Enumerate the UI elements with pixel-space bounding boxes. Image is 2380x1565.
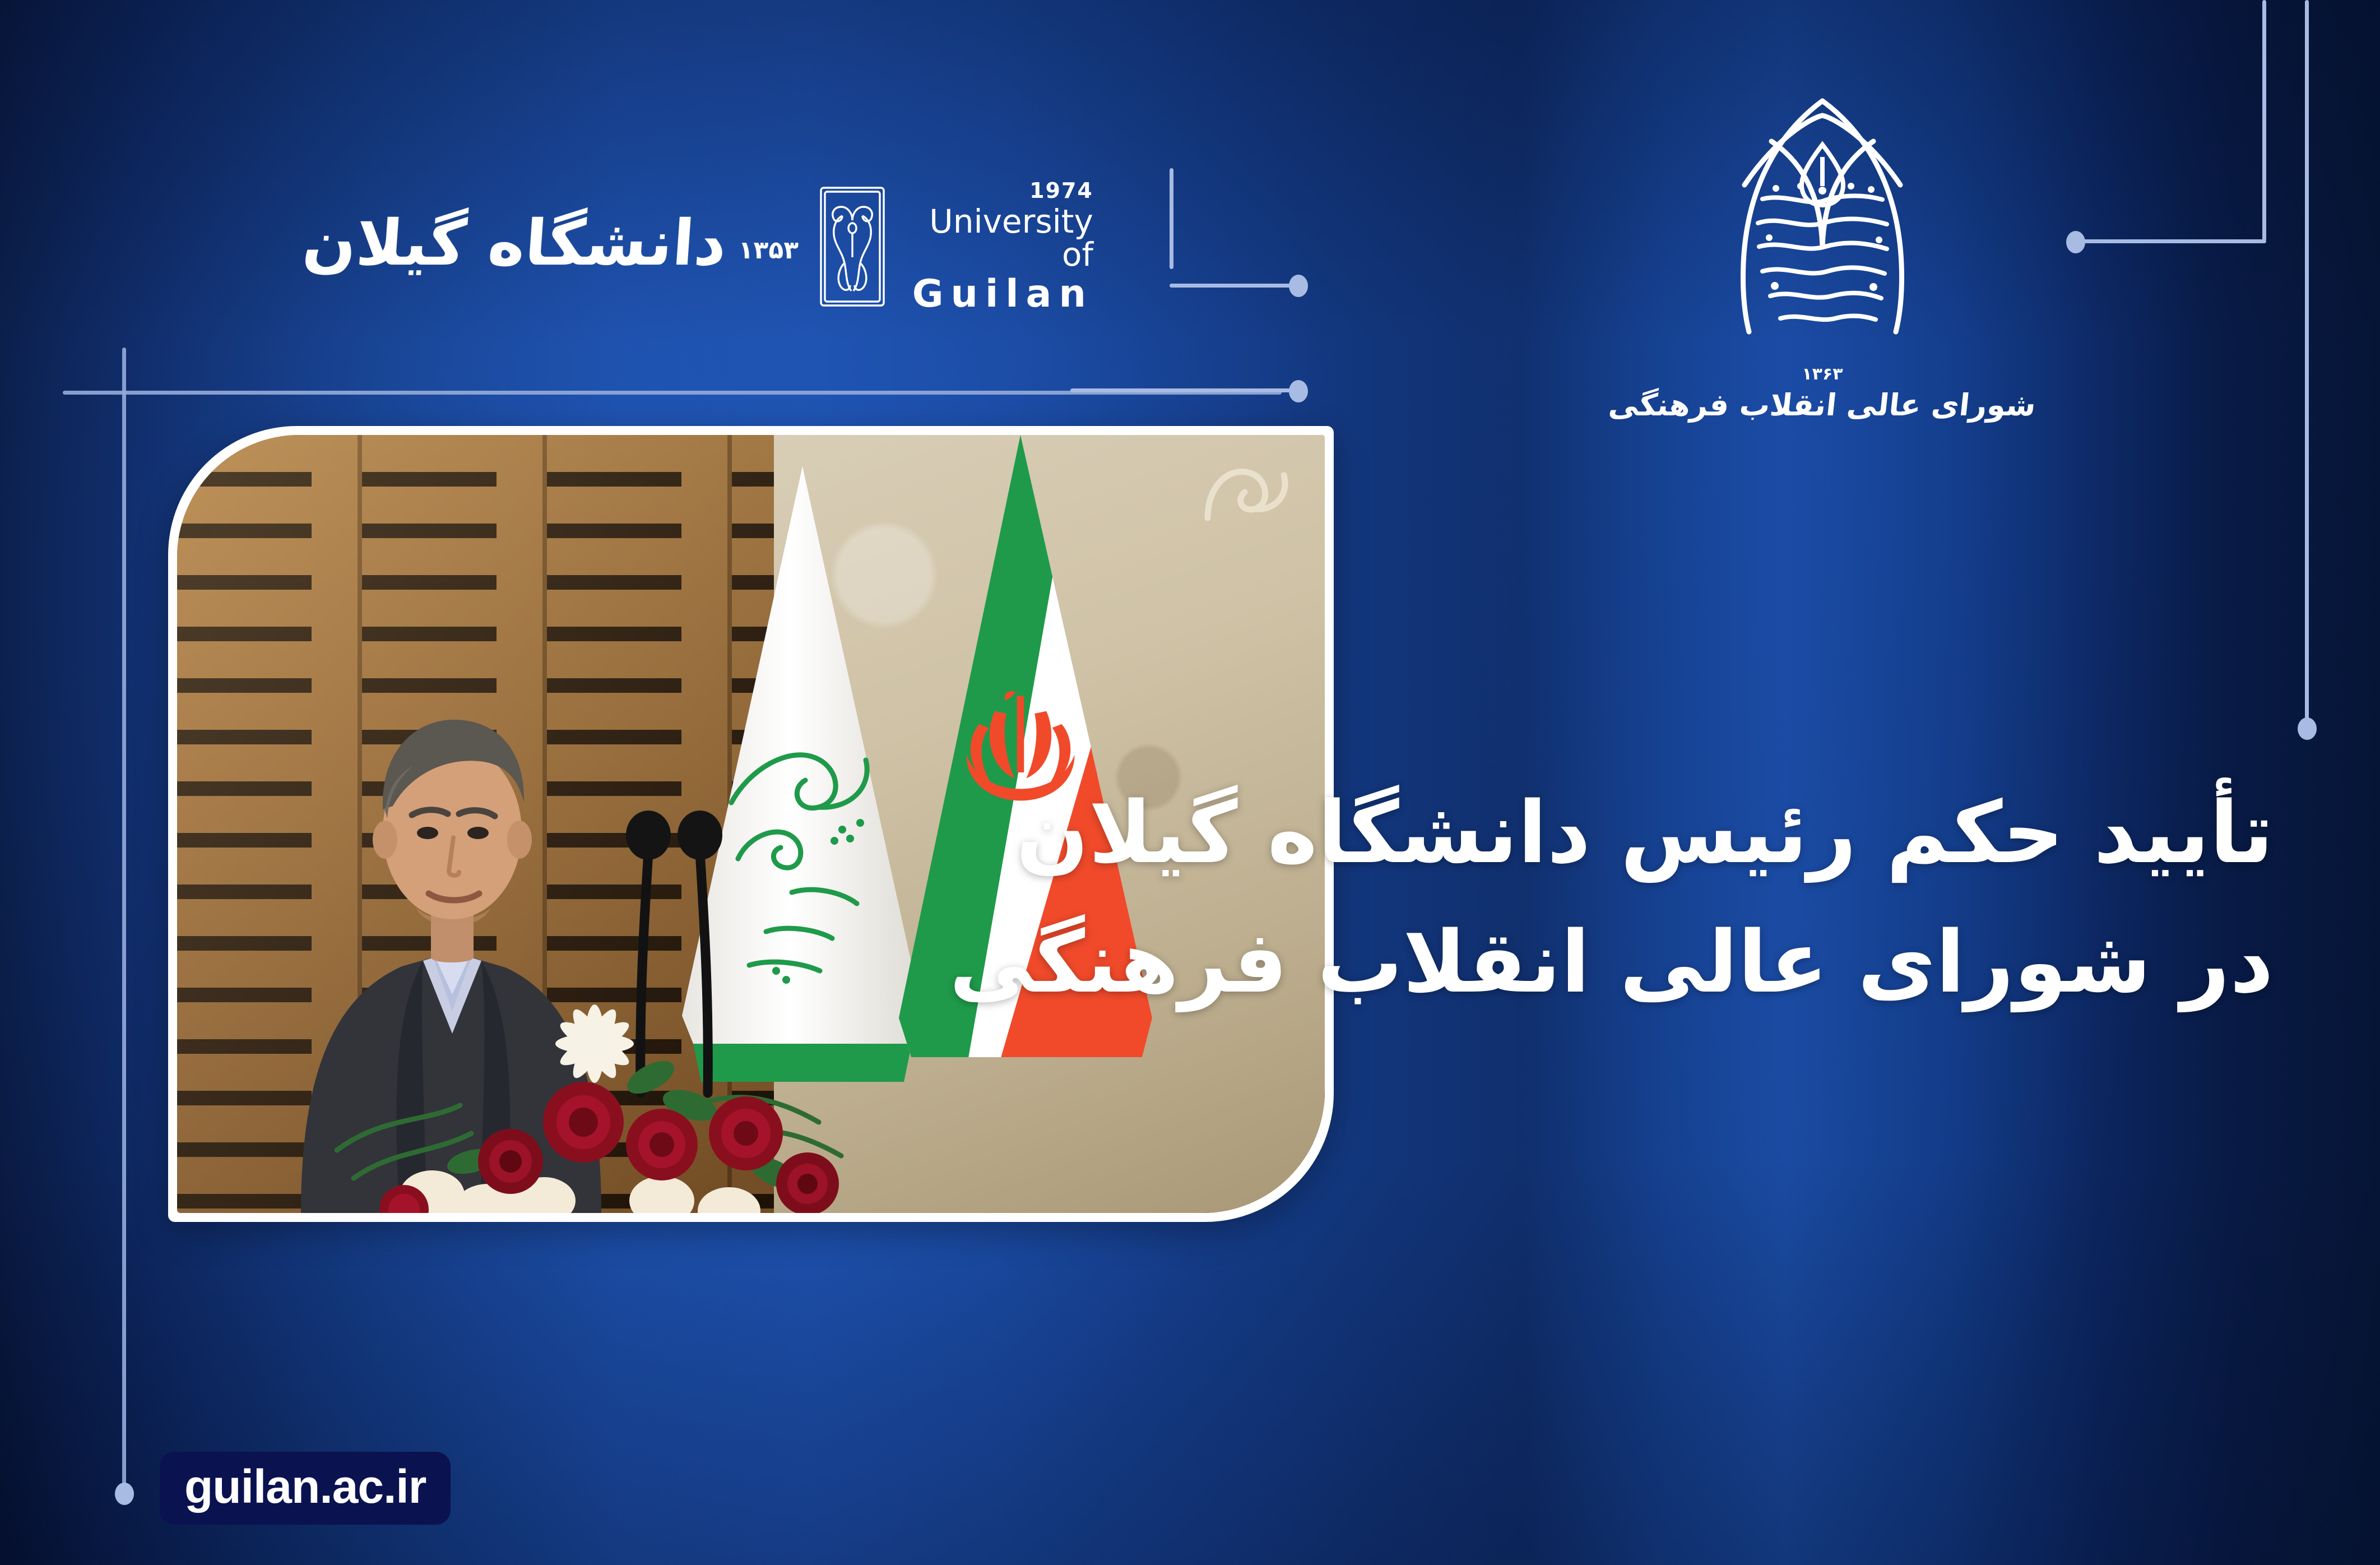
supreme-council-name: شورای عالی انقلاب فرهنگی	[1607, 387, 2038, 423]
deco-bracket-horizontal-1	[1170, 284, 1296, 288]
deco-dot-3	[2066, 231, 2085, 253]
deco-bracket-horizontal-2	[1070, 388, 1295, 392]
supreme-council-year: ۱۳۶۳	[1802, 364, 1843, 384]
university-year-fa: ۱۳۵۳	[739, 236, 799, 265]
university-name-en-line1: University of	[892, 205, 1093, 271]
deco-vertical-line-right	[2305, 0, 2309, 729]
headline-line-2: در شورای عالی انقلاب فرهنگی	[1293, 897, 2274, 1027]
deco-vertical-line-left	[122, 348, 126, 1491]
guilan-crest-icon	[818, 184, 887, 309]
deco-dot-1	[1289, 275, 1308, 297]
university-year-en: 1974	[892, 180, 1093, 202]
website-url-badge[interactable]: guilan.ac.ir	[160, 1452, 451, 1525]
headline-line-1: تأیید حکم رئیس دانشگاه گیلان	[1293, 768, 2274, 897]
page-title: تأیید حکم رئیس دانشگاه گیلان در شورای عا…	[1293, 768, 2274, 1027]
news-card-canvas: دانشگاه گیلان ۱۳۵۳ 1974 University of Gu…	[0, 0, 2380, 1565]
supreme-council-emblem: ۱۳۶۳ شورای عالی انقلاب فرهنگی	[1691, 78, 1954, 482]
deco-dot-5	[115, 1483, 134, 1505]
wall-ornament-icon	[1196, 451, 1297, 535]
deco-bracket-vertical-1	[1170, 168, 1173, 269]
deco-dot-2	[1289, 380, 1308, 402]
deco-bracket-horizontal-3	[2073, 239, 2266, 243]
deco-bracket-vertical-2	[2262, 0, 2266, 241]
supreme-council-cultural-revolution-emblem-icon	[1691, 78, 1954, 370]
university-name-en: 1974 University of Guilan	[892, 180, 1093, 313]
university-logo-lockup: دانشگاه گیلان ۱۳۵۳ 1974 University of Gu…	[303, 163, 1042, 331]
university-name-fa: دانشگاه گیلان	[301, 212, 729, 275]
university-name-en-line2: Guilan	[892, 275, 1093, 313]
deco-dot-4	[2298, 717, 2317, 740]
flower-bouquet	[303, 937, 864, 1213]
